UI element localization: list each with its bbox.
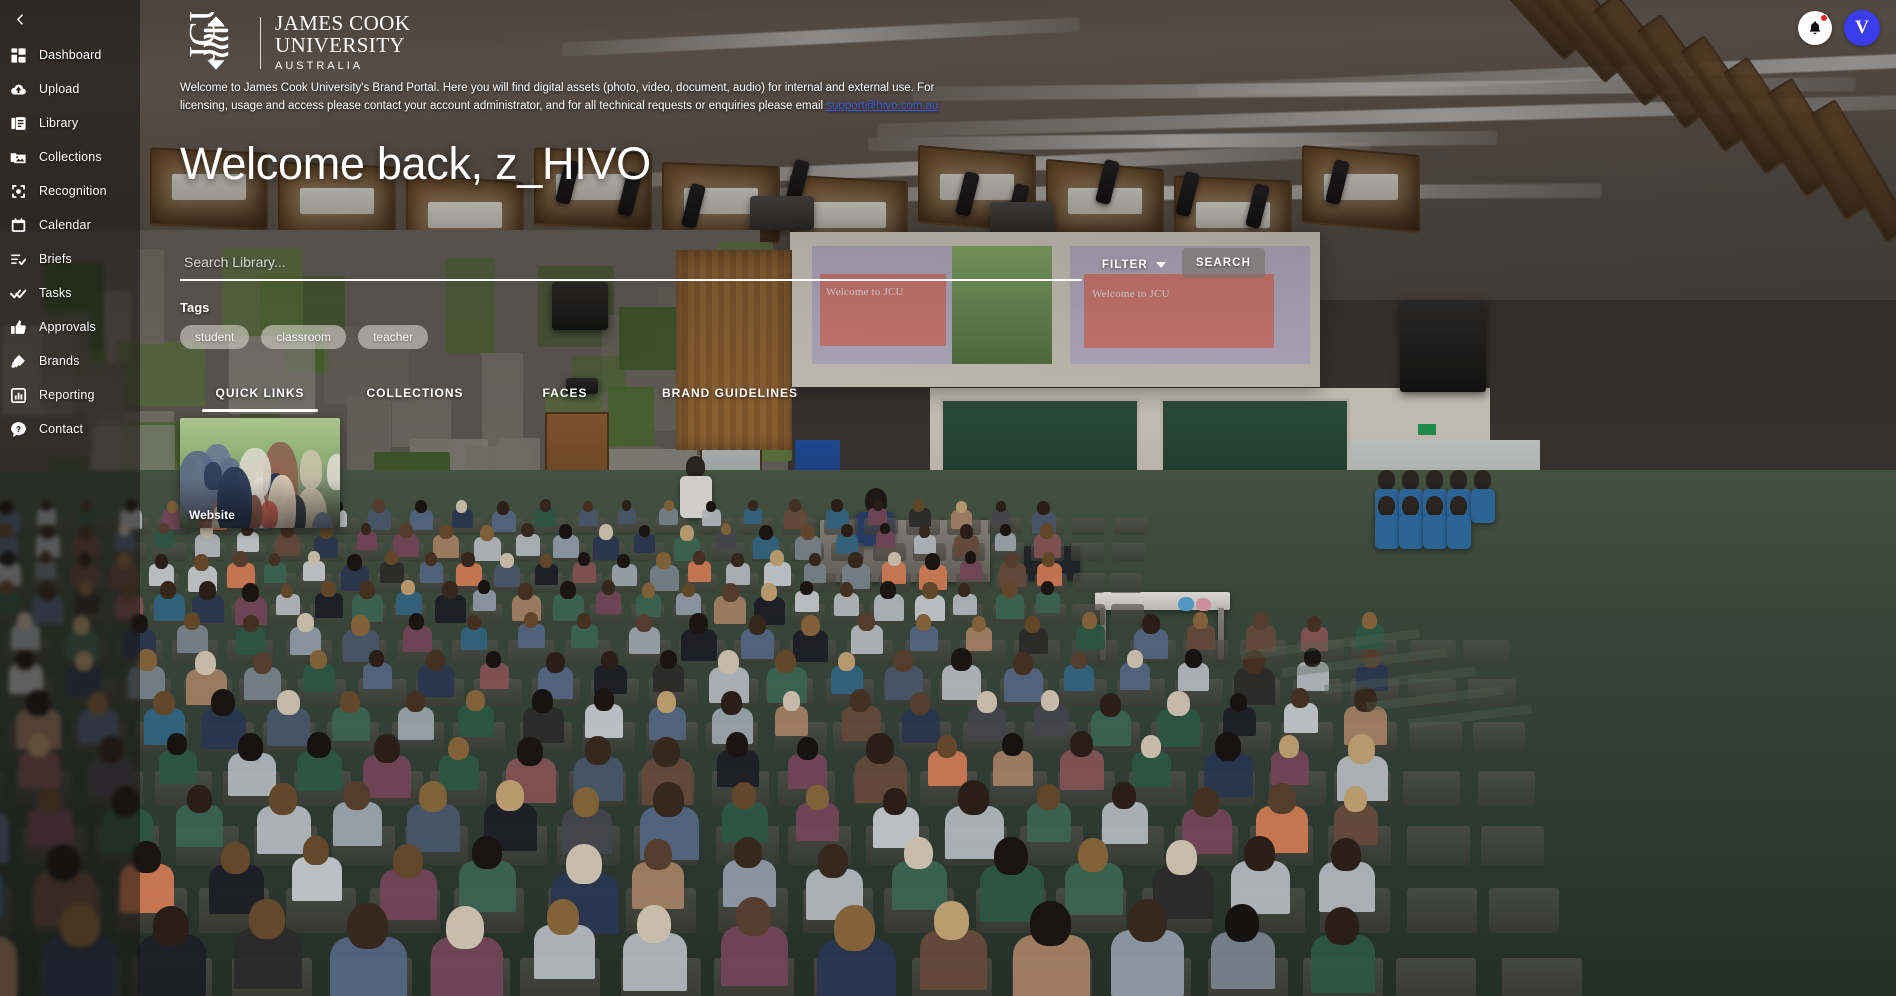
search-bar: FILTER SEARCH bbox=[180, 248, 1265, 281]
sidebar-item-label: Recognition bbox=[39, 184, 107, 198]
filter-label: FILTER bbox=[1102, 259, 1148, 271]
logo-line-1: JAMES COOK bbox=[275, 13, 410, 35]
notification-unread-dot bbox=[1820, 14, 1828, 22]
brands-layers-icon bbox=[9, 352, 28, 371]
chevron-left-icon bbox=[14, 13, 27, 26]
logo-wordmark: JAMES COOK UNIVERSITY AUSTRALIA bbox=[275, 13, 410, 72]
sidebar: DashboardUploadLibraryCollectionsRecogni… bbox=[0, 0, 140, 996]
page-title: Welcome back, z_HIVO bbox=[180, 138, 651, 190]
sidebar-item-label: Upload bbox=[39, 82, 80, 96]
tab-faces[interactable]: FACES bbox=[490, 382, 640, 412]
sidebar-item-calendar[interactable]: Calendar bbox=[0, 208, 140, 242]
sidebar-item-briefs[interactable]: Briefs bbox=[0, 242, 140, 276]
sidebar-item-brands[interactable]: Brands bbox=[0, 344, 140, 378]
upload-cloud-icon bbox=[9, 80, 28, 99]
tab-collections[interactable]: COLLECTIONS bbox=[340, 382, 490, 412]
sidebar-item-tasks[interactable]: Tasks bbox=[0, 276, 140, 310]
sidebar-item-label: Collections bbox=[39, 150, 102, 164]
intro-text: Welcome to James Cook University's Brand… bbox=[180, 82, 934, 112]
thumbs-up-icon bbox=[9, 318, 28, 337]
quick-link-label: Website bbox=[189, 508, 235, 522]
sidebar-item-upload[interactable]: Upload bbox=[0, 72, 140, 106]
sidebar-item-contact[interactable]: ?Contact bbox=[0, 412, 140, 446]
app-root: Welcome to JCU Welcome to JCU DashboardU… bbox=[0, 0, 1896, 996]
search-button[interactable]: SEARCH bbox=[1182, 248, 1265, 278]
sidebar-item-library[interactable]: Library bbox=[0, 106, 140, 140]
sidebar-item-label: Brands bbox=[39, 354, 80, 368]
tag-chip[interactable]: classroom bbox=[261, 325, 346, 349]
sidebar-item-label: Contact bbox=[39, 422, 83, 436]
sidebar-item-label: Approvals bbox=[39, 320, 96, 334]
quick-link-card[interactable]: Website bbox=[180, 418, 340, 528]
tag-chip[interactable]: teacher bbox=[358, 325, 428, 349]
tags-section: Tags studentclassroomteacher bbox=[180, 300, 428, 349]
jcu-crest-logo-icon: JCU bbox=[180, 12, 252, 74]
recognition-focus-icon bbox=[9, 182, 28, 201]
calendar-icon bbox=[9, 216, 28, 235]
sidebar-item-label: Briefs bbox=[39, 252, 72, 266]
sidebar-item-label: Reporting bbox=[39, 388, 95, 402]
briefs-list-check-icon bbox=[9, 250, 28, 269]
sidebar-item-dashboard[interactable]: Dashboard bbox=[0, 38, 140, 72]
search-field bbox=[180, 254, 1082, 281]
logo-line-2: UNIVERSITY bbox=[275, 35, 410, 57]
jcu-logo: JCU JAMES COOK UNIVERSITY AUSTRALIA bbox=[180, 12, 410, 74]
logo-divider bbox=[260, 17, 261, 69]
sidebar-item-label: Library bbox=[39, 116, 78, 130]
filter-dropdown[interactable]: FILTER bbox=[1082, 259, 1182, 281]
bell-icon bbox=[1807, 20, 1823, 36]
bar-chart-icon bbox=[9, 386, 28, 405]
intro-paragraph: Welcome to James Cook University's Brand… bbox=[180, 80, 980, 116]
topbar-actions: V bbox=[1798, 10, 1880, 46]
tag-chip-list: studentclassroomteacher bbox=[180, 325, 428, 349]
svg-text:?: ? bbox=[16, 424, 21, 433]
question-bubble-icon: ? bbox=[9, 420, 28, 439]
tab-brand-guidelines[interactable]: BRAND GUIDELINES bbox=[640, 382, 820, 412]
sidebar-item-recognition[interactable]: Recognition bbox=[0, 174, 140, 208]
sidebar-item-approvals[interactable]: Approvals bbox=[0, 310, 140, 344]
tab-quick-links[interactable]: QUICK LINKS bbox=[180, 382, 340, 412]
sidebar-item-collections[interactable]: Collections bbox=[0, 140, 140, 174]
library-documents-icon bbox=[9, 114, 28, 133]
support-email-link[interactable]: support@hivo.com.au bbox=[826, 100, 938, 112]
tag-chip[interactable]: student bbox=[180, 325, 249, 349]
sidebar-item-label: Dashboard bbox=[39, 48, 102, 62]
tasks-double-check-icon bbox=[9, 284, 28, 303]
notifications-button[interactable] bbox=[1798, 11, 1832, 45]
user-avatar[interactable]: V bbox=[1844, 10, 1880, 46]
sidebar-item-label: Calendar bbox=[39, 218, 91, 232]
tab-bar: QUICK LINKSCOLLECTIONSFACESBRAND GUIDELI… bbox=[180, 382, 820, 412]
collections-folder-icon bbox=[9, 148, 28, 167]
quick-links-list: Website bbox=[180, 418, 340, 528]
search-underline bbox=[180, 279, 1082, 281]
dashboard-grid-icon bbox=[9, 46, 28, 65]
sidebar-collapse-button[interactable] bbox=[0, 0, 40, 38]
logo-line-3: AUSTRALIA bbox=[275, 61, 410, 72]
tags-heading: Tags bbox=[180, 300, 428, 315]
sidebar-item-reporting[interactable]: Reporting bbox=[0, 378, 140, 412]
sidebar-item-label: Tasks bbox=[39, 286, 72, 300]
sidebar-nav: DashboardUploadLibraryCollectionsRecogni… bbox=[0, 38, 140, 446]
search-input[interactable] bbox=[180, 254, 1082, 279]
chevron-down-icon bbox=[1156, 262, 1166, 268]
